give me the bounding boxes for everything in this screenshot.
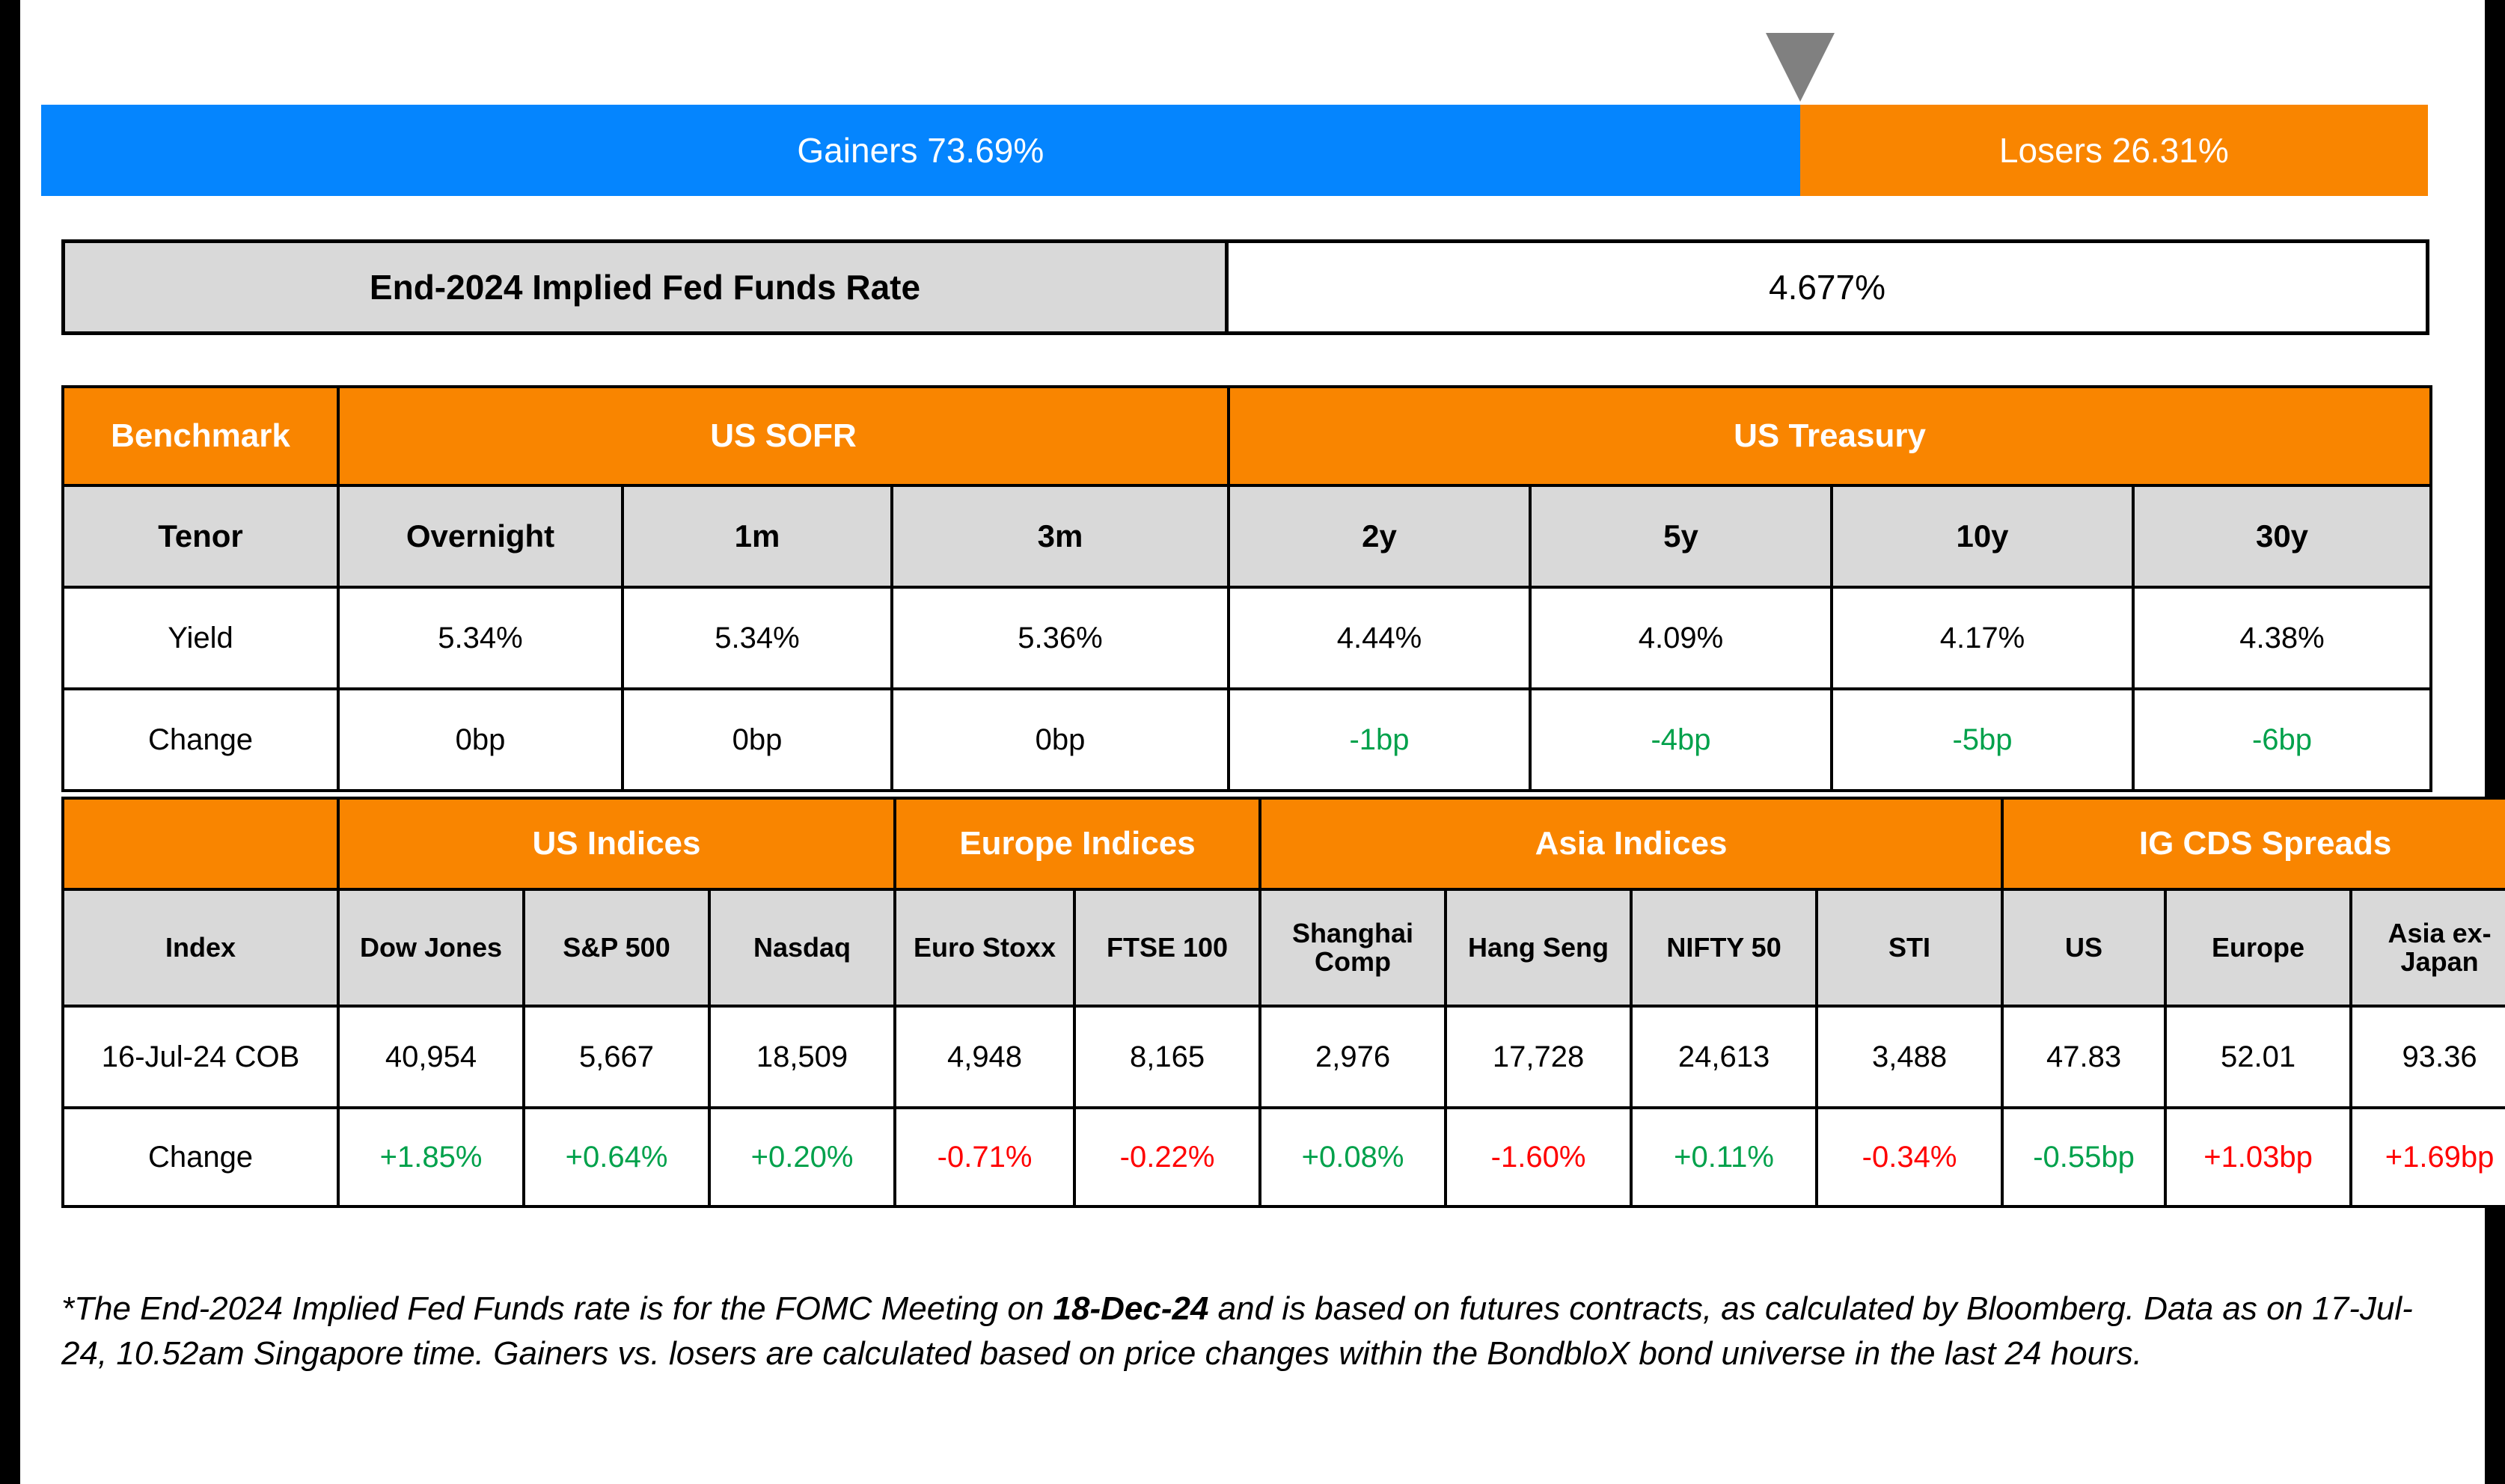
label-tenor: Tenor (63, 485, 338, 587)
change-cell: 0bp (338, 689, 623, 791)
yield-cell: 5.34% (338, 587, 623, 689)
index-value-cell: 2,976 (1260, 1006, 1446, 1108)
tenor-cell: 5y (1530, 485, 1832, 587)
index-name-cell: S&P 500 (524, 889, 709, 1006)
index-value-cell: 17,728 (1446, 1006, 1631, 1108)
gainers-segment[interactable]: Gainers 73.69% (41, 105, 1800, 196)
losers-label: Losers 26.31% (1999, 130, 2229, 171)
change-cell: -1bp (1229, 689, 1530, 791)
change-cell: 0bp (892, 689, 1229, 791)
header-us-sofr: US SOFR (338, 387, 1229, 485)
index-name-cell: Europe (2165, 889, 2351, 1006)
header-europe-indices: Europe Indices (895, 798, 1260, 889)
index-name-cell: Euro Stoxx (895, 889, 1074, 1006)
table-row-change: Change +1.85% +0.64% +0.20% -0.71% -0.22… (63, 1108, 2505, 1206)
change-cell: -6bp (2133, 689, 2431, 791)
yield-cell: 4.38% (2133, 587, 2431, 689)
fed-funds-label: End-2024 Implied Fed Funds Rate (61, 239, 1229, 335)
index-change-cell: +0.08% (1260, 1108, 1446, 1206)
fed-funds-row: End-2024 Implied Fed Funds Rate 4.677% (61, 239, 2429, 335)
header-benchmark: Benchmark (63, 387, 338, 485)
index-name-cell: FTSE 100 (1074, 889, 1260, 1006)
index-name-cell: Nasdaq (709, 889, 895, 1006)
change-cell: 0bp (623, 689, 892, 791)
header-us-indices: US Indices (338, 798, 895, 889)
index-change-cell: +0.11% (1631, 1108, 1817, 1206)
label-cob-date: 16-Jul-24 COB (63, 1006, 338, 1108)
index-name-cell: NIFTY 50 (1631, 889, 1817, 1006)
footnote-bold-date: 18-Dec-24 (1053, 1290, 1209, 1327)
yield-cell: 5.36% (892, 587, 1229, 689)
sentiment-bar: Gainers 73.69% Losers 26.31% (41, 105, 2428, 196)
index-value-cell: 8,165 (1074, 1006, 1260, 1108)
index-value-cell: 47.83 (2002, 1006, 2165, 1108)
tenor-cell: 3m (892, 485, 1229, 587)
index-change-cell: -0.34% (1817, 1108, 2002, 1206)
header-ig-cds-spreads: IG CDS Spreads (2002, 798, 2505, 889)
index-change-cell: +1.03bp (2165, 1108, 2351, 1206)
tenor-cell: 10y (1832, 485, 2133, 587)
label-index: Index (63, 889, 338, 1006)
sentiment-bar-container: Gainers 73.69% Losers 26.31% (41, 105, 2428, 196)
tenor-cell: Overnight (338, 485, 623, 587)
table-row-values: 16-Jul-24 COB 40,954 5,667 18,509 4,948 … (63, 1006, 2505, 1108)
change-cell: -5bp (1832, 689, 2133, 791)
header-us-treasury: US Treasury (1229, 387, 2431, 485)
index-change-cell: +0.20% (709, 1108, 895, 1206)
down-triangle-marker-icon (1766, 33, 1835, 102)
header-index-spacer (63, 798, 338, 889)
index-name-cell: Shanghai Comp (1260, 889, 1446, 1006)
index-change-cell: -0.71% (895, 1108, 1074, 1206)
gainers-label: Gainers 73.69% (797, 130, 1044, 171)
tenor-cell: 1m (623, 485, 892, 587)
index-value-cell: 40,954 (338, 1006, 524, 1108)
footnote-part1: *The End-2024 Implied Fed Funds rate is … (61, 1290, 1053, 1327)
index-value-cell: 4,948 (895, 1006, 1074, 1108)
table-row-tenor: Tenor Overnight 1m 3m 2y 5y 10y 30y (63, 485, 2431, 587)
index-value-cell: 3,488 (1817, 1006, 2002, 1108)
tenor-cell: 2y (1229, 485, 1530, 587)
tenor-cell: 30y (2133, 485, 2431, 587)
table-row-yield: Yield 5.34% 5.34% 5.36% 4.44% 4.09% 4.17… (63, 587, 2431, 689)
benchmark-rates-table: Benchmark US SOFR US Treasury Tenor Over… (61, 385, 2432, 792)
index-value-cell: 24,613 (1631, 1006, 1817, 1108)
table-row-change: Change 0bp 0bp 0bp -1bp -4bp -5bp -6bp (63, 689, 2431, 791)
yield-cell: 5.34% (623, 587, 892, 689)
index-name-cell: Hang Seng (1446, 889, 1631, 1006)
fed-funds-value: 4.677% (1229, 239, 2429, 335)
losers-segment[interactable]: Losers 26.31% (1800, 105, 2428, 196)
index-value-cell: 93.36 (2351, 1006, 2505, 1108)
label-yield: Yield (63, 587, 338, 689)
index-value-cell: 52.01 (2165, 1006, 2351, 1108)
index-change-cell: -0.22% (1074, 1108, 1260, 1206)
yield-cell: 4.17% (1832, 587, 2133, 689)
page-canvas: Gainers 73.69% Losers 26.31% End-2024 Im… (20, 0, 2485, 1484)
indices-cds-table: US Indices Europe Indices Asia Indices I… (61, 797, 2505, 1208)
index-name-cell: Asia ex-Japan (2351, 889, 2505, 1006)
index-change-cell: +1.85% (338, 1108, 524, 1206)
yield-cell: 4.44% (1229, 587, 1530, 689)
index-name-cell: STI (1817, 889, 2002, 1006)
table-row-index-names: Index Dow Jones S&P 500 Nasdaq Euro Stox… (63, 889, 2505, 1006)
yield-cell: 4.09% (1530, 587, 1832, 689)
index-change-cell: -0.55bp (2002, 1108, 2165, 1206)
table-row-group-headers: Benchmark US SOFR US Treasury (63, 387, 2431, 485)
index-value-cell: 5,667 (524, 1006, 709, 1108)
header-asia-indices: Asia Indices (1260, 798, 2002, 889)
index-change-cell: -1.60% (1446, 1108, 1631, 1206)
index-name-cell: US (2002, 889, 2165, 1006)
index-change-cell: +1.69bp (2351, 1108, 2505, 1206)
table-row-group-headers: US Indices Europe Indices Asia Indices I… (63, 798, 2505, 889)
index-name-cell: Dow Jones (338, 889, 524, 1006)
label-change: Change (63, 689, 338, 791)
footnote: *The End-2024 Implied Fed Funds rate is … (61, 1287, 2441, 1376)
label-change: Change (63, 1108, 338, 1206)
change-cell: -4bp (1530, 689, 1832, 791)
index-change-cell: +0.64% (524, 1108, 709, 1206)
index-value-cell: 18,509 (709, 1006, 895, 1108)
